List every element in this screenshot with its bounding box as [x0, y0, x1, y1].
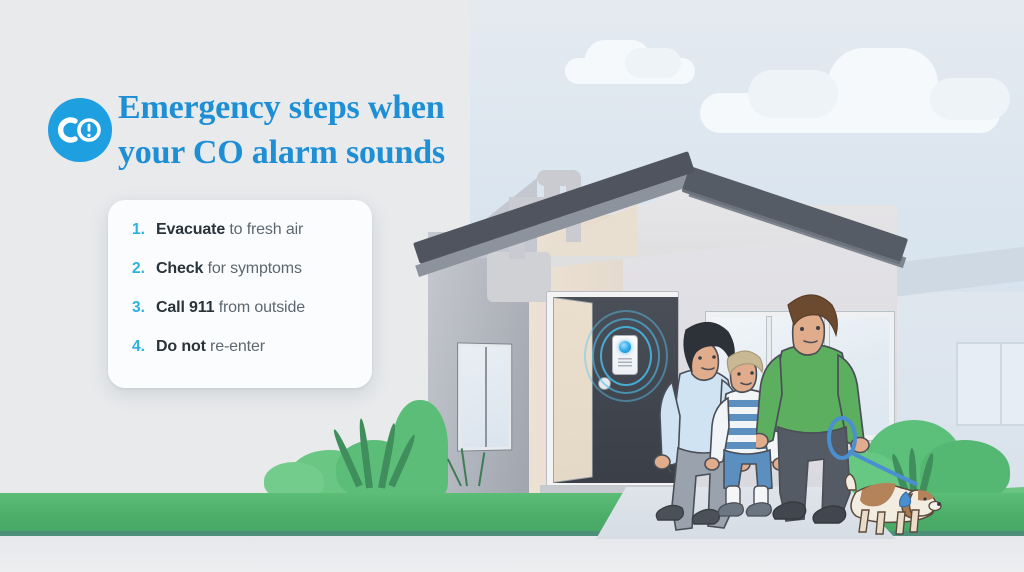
infographic-canvas: Emergency steps when your CO alarm sound… — [0, 0, 1024, 572]
step-text: Do not re-enter — [156, 338, 265, 356]
step-text: Check for symptoms — [156, 260, 302, 278]
step-rest: from outside — [214, 299, 305, 316]
step-rest: to fresh air — [225, 221, 303, 238]
title-line-1: Emergency steps when — [118, 85, 558, 130]
co-alert-icon — [48, 98, 112, 162]
steps-card: 1. Evacuate to fresh air 2. Check for sy… — [108, 200, 372, 388]
alarm-led-icon — [619, 341, 631, 353]
step-bold: Evacuate — [156, 221, 225, 238]
step-bold: Call 911 — [156, 299, 214, 316]
step-rest: for symptoms — [203, 260, 302, 277]
list-item: 1. Evacuate to fresh air — [108, 221, 372, 260]
alarm-grill-icon — [618, 358, 632, 368]
dog-figure — [840, 462, 950, 538]
side-window — [458, 343, 511, 450]
step-text: Evacuate to fresh air — [156, 221, 303, 239]
step-bold: Do not — [156, 338, 206, 355]
list-item: 4. Do not re-enter — [108, 338, 372, 377]
step-number: 4. — [132, 338, 156, 356]
step-bold: Check — [156, 260, 203, 277]
title-line-2: your CO alarm sounds — [118, 130, 558, 175]
list-item: 3. Call 911 from outside — [108, 299, 372, 338]
step-number: 3. — [132, 299, 156, 317]
neighbor-window — [956, 342, 1024, 426]
step-number: 1. — [132, 221, 156, 239]
foreground-ground — [0, 536, 1024, 572]
page-title: Emergency steps when your CO alarm sound… — [118, 85, 558, 175]
list-item: 2. Check for symptoms — [108, 260, 372, 299]
step-number: 2. — [132, 260, 156, 278]
step-text: Call 911 from outside — [156, 299, 305, 317]
step-rest: re-enter — [206, 338, 265, 355]
